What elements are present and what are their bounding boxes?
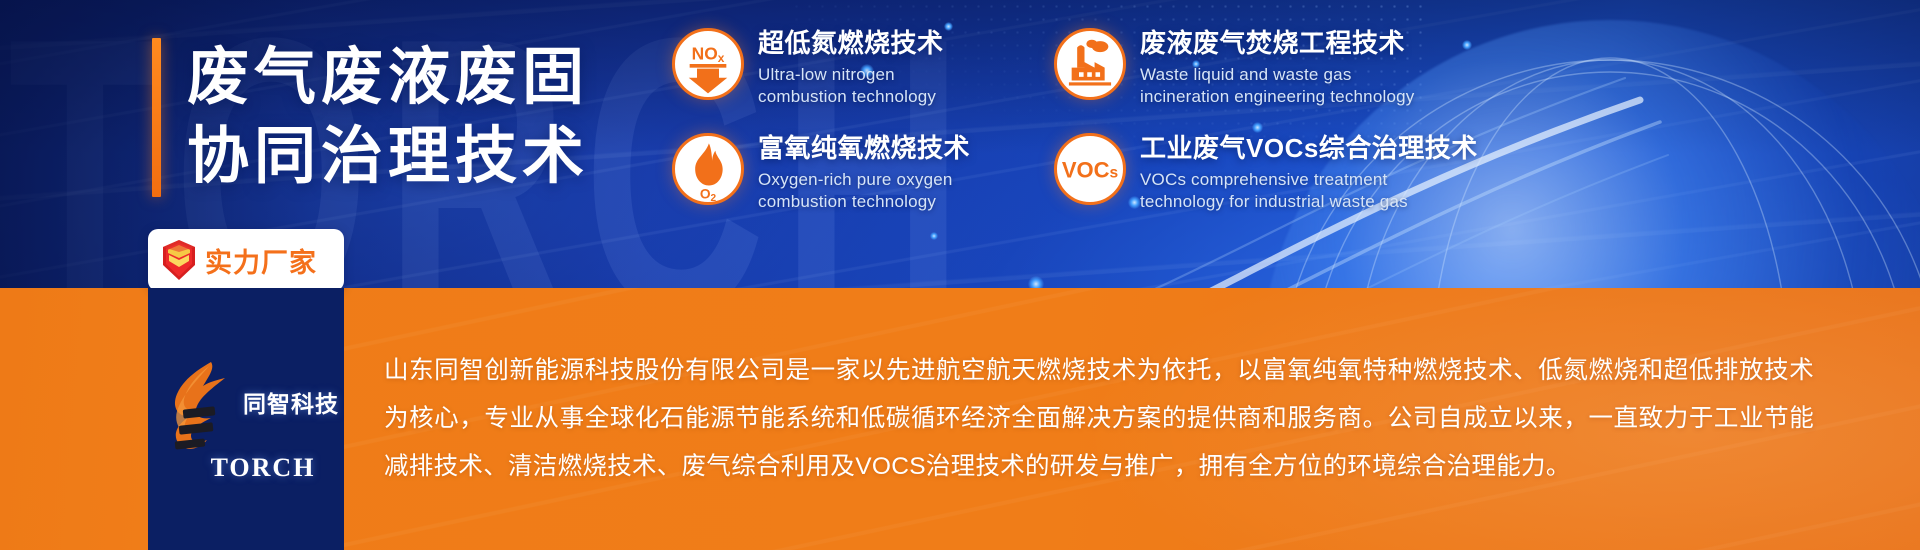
badge-label: 实力厂家 (205, 241, 317, 280)
flame-oxygen-icon: O2 (672, 133, 744, 205)
feature-title-cn: 富氧纯氧燃烧技术 (758, 134, 970, 164)
feature-title-cn: 工业废气VOCs综合治理技术 (1140, 134, 1478, 164)
torch-flame-icon (153, 356, 239, 454)
company-description-text: 山东同智创新能源科技股份有限公司是一家以先进航空航天燃烧技术为依托，以富氧纯氧特… (384, 347, 1814, 490)
feature-title-en: Oxygen-rich pure oxygen combustion techn… (758, 169, 970, 214)
feature-text: 工业废气VOCs综合治理技术 VOCs comprehensive treatm… (1140, 133, 1478, 214)
shield-hexagon-icon (161, 238, 197, 282)
glow-dot (930, 232, 938, 240)
feature-item: 废液废气焚烧工程技术 Waste liquid and waste gas in… (1054, 28, 1912, 109)
feature-text: 超低氮燃烧技术 Ultra-low nitrogen combustion te… (758, 28, 944, 109)
vocs-text-icon: VOCs (1054, 133, 1126, 205)
strength-manufacturer-badge: 实力厂家 (148, 229, 344, 291)
company-logo-panel: 同智科技 TORCH (148, 288, 344, 550)
feature-text: 废液废气焚烧工程技术 Waste liquid and waste gas in… (1140, 28, 1414, 109)
feature-item: VOCs 工业废气VOCs综合治理技术 VOCs comprehensive t… (1054, 133, 1912, 214)
company-logo: 同智科技 TORCH (153, 356, 339, 483)
vocs-icon-label: VOCs (1062, 157, 1119, 182)
feature-title-cn: 超低氮燃烧技术 (758, 29, 944, 59)
feature-item: O2 富氧纯氧燃烧技术 Oxygen-rich pure oxygen comb… (672, 133, 1020, 214)
feature-text: 富氧纯氧燃烧技术 Oxygen-rich pure oxygen combust… (758, 133, 970, 214)
headline-block: 废气废液废固 协同治理技术 (152, 38, 589, 197)
headline-line-2: 协同治理技术 (187, 117, 589, 196)
svg-text:NOx: NOx (692, 43, 725, 65)
feature-grid: NOx 超低氮燃烧技术 Ultra-low nitrogen combustio… (672, 28, 1912, 214)
promo-banner: TORCH 废气废液废固 协同治理技 (0, 0, 1920, 550)
svg-text:O2: O2 (700, 186, 717, 204)
logo-name-cn: 同智科技 (243, 393, 339, 416)
page-title: 废气废液废固 协同治理技术 (187, 38, 589, 197)
feature-title-en: Waste liquid and waste gas incineration … (1140, 64, 1414, 109)
feature-title-en: VOCs comprehensive treatment technology … (1140, 169, 1478, 214)
feature-title-cn: 废液废气焚烧工程技术 (1140, 29, 1414, 59)
logo-name-en: TORCH (211, 454, 316, 483)
left-orange-strip (0, 288, 148, 550)
factory-incinerator-icon (1054, 28, 1126, 100)
feature-title-en: Ultra-low nitrogen combustion technology (758, 64, 944, 109)
nox-down-arrow-icon: NOx (672, 28, 744, 100)
feature-item: NOx 超低氮燃烧技术 Ultra-low nitrogen combustio… (672, 28, 1020, 109)
logo-primary-row: 同智科技 (153, 356, 339, 454)
headline-accent-bar (152, 38, 161, 197)
headline-line-1: 废气废液废固 (187, 38, 589, 117)
company-description-block: 山东同智创新能源科技股份有限公司是一家以先进航空航天燃烧技术为依托，以富氧纯氧特… (384, 288, 1814, 550)
